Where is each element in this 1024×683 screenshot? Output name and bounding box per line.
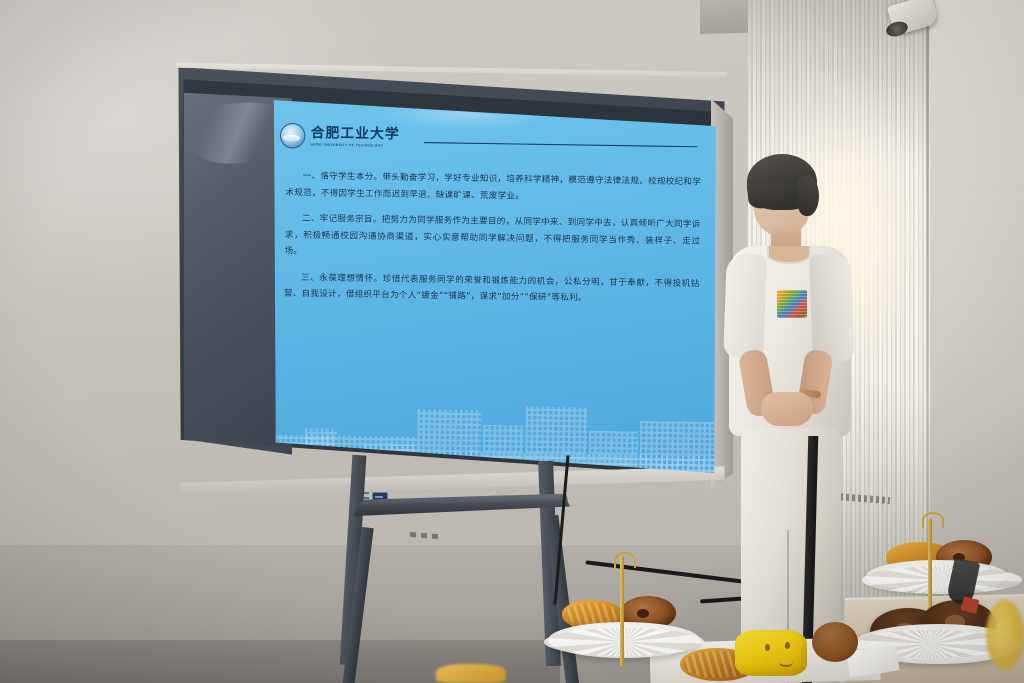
presenter-right-sleeve	[809, 253, 855, 362]
university-name-en: HEFEI UNIVERSITY OF TECHNOLOGY	[311, 142, 400, 148]
presenter	[715, 150, 865, 683]
presenter-collar	[767, 246, 811, 264]
wall-corner-edge	[926, 0, 929, 600]
yellow-item-blurred	[986, 600, 1024, 670]
slide-header-rule	[424, 142, 697, 147]
watermark-block	[639, 421, 716, 473]
presenter-hands	[761, 392, 813, 426]
interactive-display[interactable]: 合肥工业大学 HEFEI UNIVERSITY OF TECHNOLOGY 一、…	[174, 55, 729, 485]
slide-paragraph-1: 一、恪守学生本分。带头勤奋学习，学好专业知识，培养科学精神，模范遵守法律法规、校…	[285, 167, 701, 206]
presenter-left-sleeve	[723, 253, 767, 358]
right-wall	[928, 0, 1024, 600]
pastry-blurred-left	[436, 664, 506, 683]
slide-body-text: 一、恪守学生本分。带头勤奋学习，学好专业知识，培养科学精神，模范遵守法律法规、校…	[284, 167, 702, 317]
pastry-plate	[548, 622, 700, 658]
yellow-character-bun	[735, 630, 807, 676]
pastry-stand-handle	[614, 552, 636, 568]
brown-bread-roll	[812, 622, 858, 662]
slide-paragraph-3: 三、永葆理想情怀。珍惜代表服务同学的荣誉和锻炼能力的机会，公私分明，甘于奉献，不…	[284, 269, 700, 308]
screenshot-scene: 合肥工业大学 HEFEI UNIVERSITY OF TECHNOLOGY 一、…	[0, 0, 1024, 683]
presentation-slide[interactable]: 合肥工业大学 HEFEI UNIVERSITY OF TECHNOLOGY 一、…	[274, 91, 716, 473]
university-logo: 合肥工业大学 HEFEI UNIVERSITY OF TECHNOLOGY	[280, 123, 400, 150]
bun-eye-left	[765, 644, 770, 651]
pastry-stand-handle-right	[922, 512, 944, 528]
university-crest-icon	[280, 123, 306, 149]
university-name-cn: 合肥工业大学	[311, 126, 400, 141]
pastry-stand-rod	[620, 556, 624, 666]
pastry-plate-top	[866, 560, 1008, 592]
cartoon-character-print	[777, 290, 807, 318]
presenter-hair-side	[797, 176, 819, 216]
slide-paragraph-2: 二、牢记服务宗旨。把努力为同学服务作为主要目的，从同学中来、到同学中去，认真倾听…	[284, 210, 700, 266]
bun-eye-right	[785, 642, 790, 649]
bun-mouth	[779, 658, 793, 667]
